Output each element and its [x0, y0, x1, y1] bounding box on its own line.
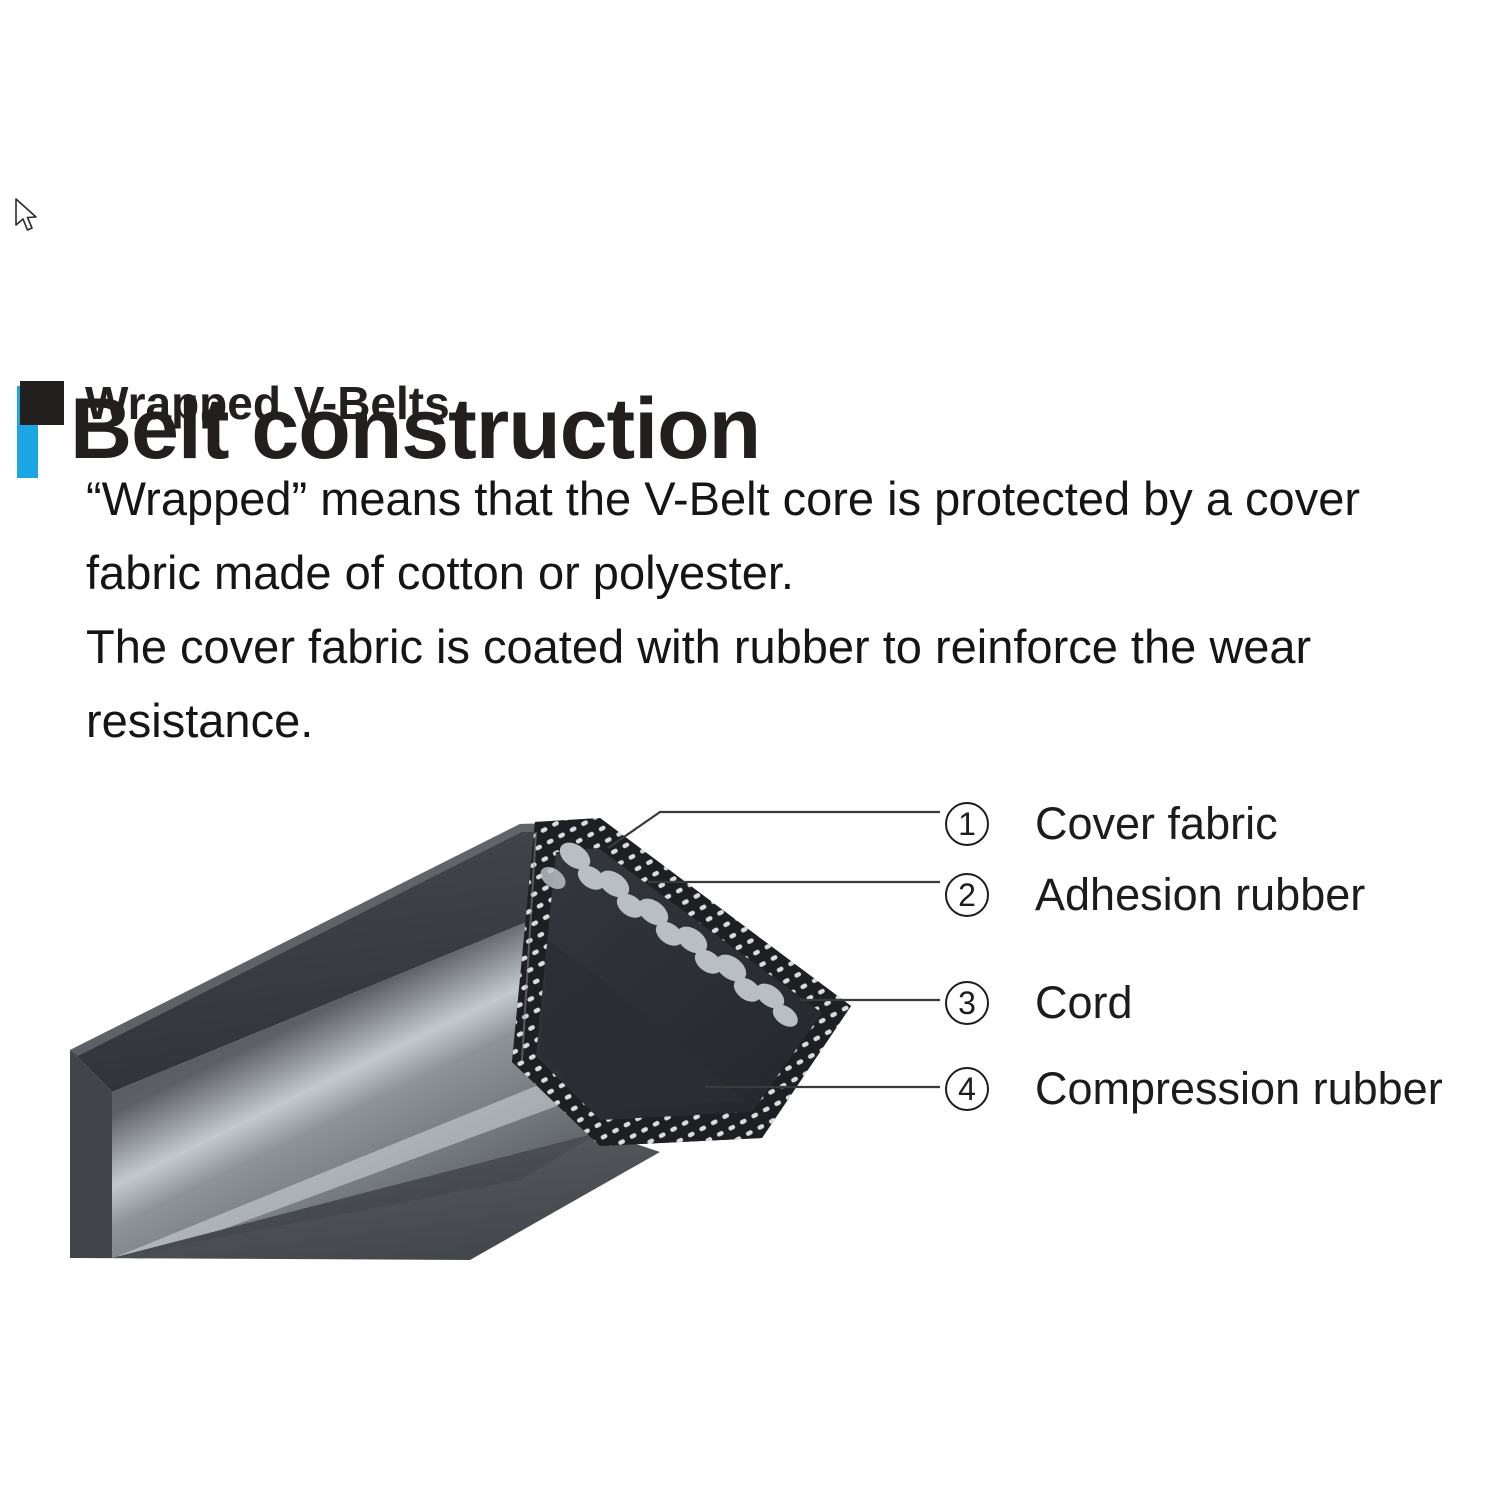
callout-label-3: Cord [1035, 977, 1133, 1029]
body-line: resistance. [86, 684, 1466, 758]
section-heading: Wrapped V-Belts [85, 374, 450, 432]
callout-label-4: Compression rubber [1035, 1063, 1443, 1115]
belt-cross-section [512, 818, 851, 1146]
callout-item-3: 3 Cord [945, 975, 1133, 1031]
body-paragraph: “Wrapped” means that the V-Belt core is … [86, 462, 1466, 758]
callout-item-1: 1 Cover fabric [945, 796, 1278, 852]
callout-number-1: 1 [945, 802, 989, 846]
body-line: fabric made of cotton or polyester. [86, 536, 1466, 610]
slide-page: Belt construction Wrapped V-Belts “Wrapp… [0, 0, 1500, 1500]
callout-item-2: 2 Adhesion rubber [945, 867, 1365, 923]
callout-number-3: 3 [945, 981, 989, 1025]
callout-item-4: 4 Compression rubber [945, 1061, 1443, 1117]
callout-label-2: Adhesion rubber [1035, 869, 1365, 921]
body-line: “Wrapped” means that the V-Belt core is … [86, 462, 1466, 536]
body-line: The cover fabric is coated with rubber t… [86, 610, 1466, 684]
callout-number-4: 4 [945, 1067, 989, 1111]
callout-label-1: Cover fabric [1035, 798, 1278, 850]
square-bullet-icon [20, 381, 64, 425]
mouse-pointer-icon [14, 198, 40, 234]
leader-line-1 [608, 812, 940, 848]
callout-number-2: 2 [945, 873, 989, 917]
title-block: Belt construction [0, 186, 1500, 306]
